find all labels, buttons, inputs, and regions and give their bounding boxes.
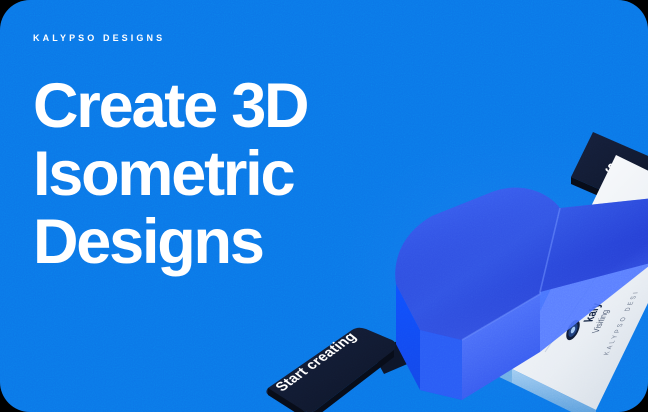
hero-banner: Start c xyxy=(0,0,648,412)
headline-line-1: Create 3D xyxy=(33,72,307,140)
page-title: Create 3D Isometric Designs xyxy=(33,72,307,276)
headline-line-2: Isometric xyxy=(33,140,307,208)
headline-line-3: Designs xyxy=(33,208,307,276)
brand-label: KALYPSO DESIGNS xyxy=(33,33,165,43)
